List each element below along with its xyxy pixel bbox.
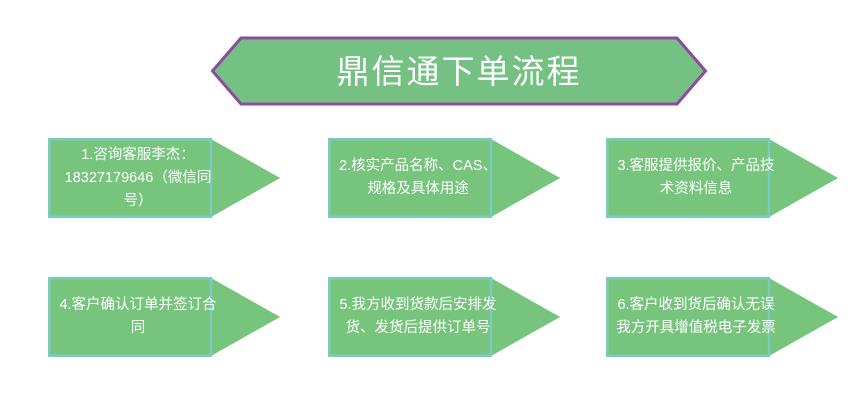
flow-step-1[interactable]: 1.咨询客服李杰：18327179646（微信同号） <box>48 138 280 218</box>
flow-step-2[interactable]: 2.核实产品名称、CAS、规格及具体用途 <box>328 138 560 218</box>
diagram-title-text: 鼎信通下单流程 <box>211 36 707 106</box>
step-6-label: 6.客户收到货后确认无误我方开具增值税电子发票 <box>612 277 780 357</box>
step-1-label: 1.咨询客服李杰：18327179646（微信同号） <box>54 138 222 218</box>
step-2-label: 2.核实产品名称、CAS、规格及具体用途 <box>334 138 502 218</box>
flow-step-5[interactable]: 5.我方收到货款后安排发货、发货后提供订单号 <box>328 277 560 357</box>
flow-step-6[interactable]: 6.客户收到货后确认无误我方开具增值税电子发票 <box>606 277 838 357</box>
flow-step-4[interactable]: 4.客户确认订单并签订合同 <box>48 277 280 357</box>
step-5-label: 5.我方收到货款后安排发货、发货后提供订单号 <box>334 277 502 357</box>
step-4-label: 4.客户确认订单并签订合同 <box>54 277 222 357</box>
diagram-title-banner: 鼎信通下单流程 <box>211 36 707 106</box>
flowchart-canvas: 鼎信通下单流程 1.咨询客服李杰：18327179646（微信同号） 2.核实产… <box>0 0 865 417</box>
flow-step-3[interactable]: 3.客服提供报价、产品技术资料信息 <box>606 138 838 218</box>
step-3-label: 3.客服提供报价、产品技术资料信息 <box>612 138 780 218</box>
